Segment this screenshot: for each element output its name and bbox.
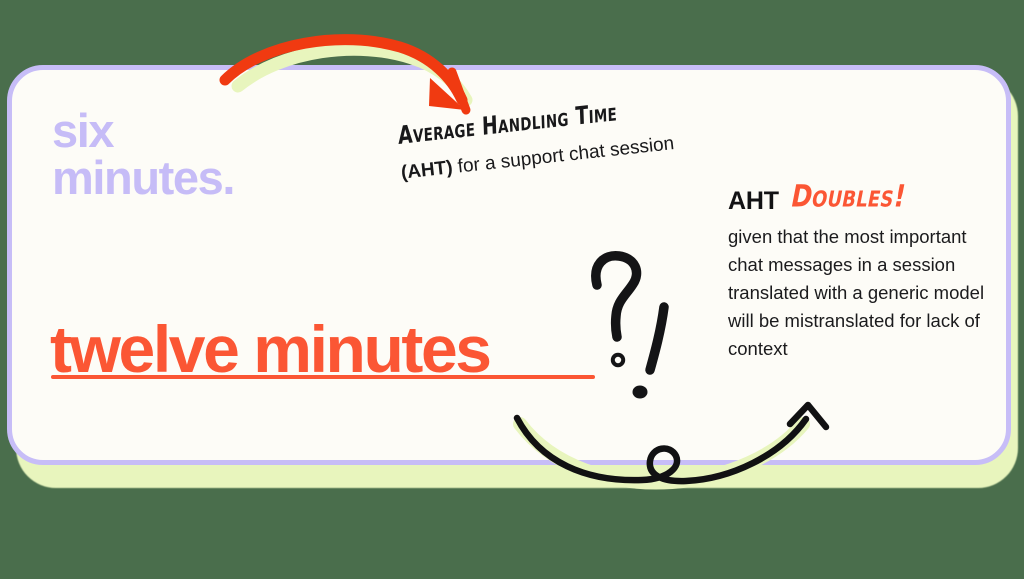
callout-headline: AHT Doubles!	[728, 186, 994, 216]
statement-after: twelve minutes	[50, 316, 490, 382]
aht-abbreviation: (AHT)	[400, 157, 454, 183]
aht-doubles-callout: AHT Doubles! given that the most importa…	[728, 186, 994, 364]
callout-headline-bold: AHT	[728, 187, 779, 216]
statement-after-underline	[51, 375, 595, 379]
poster-canvas: six minutes. twelve minutes Average Hand…	[0, 0, 1024, 579]
callout-headline-handwritten: Doubles!	[788, 178, 909, 213]
statement-before: six minutes.	[52, 108, 234, 201]
callout-body-text: given that the most important chat messa…	[728, 223, 994, 364]
